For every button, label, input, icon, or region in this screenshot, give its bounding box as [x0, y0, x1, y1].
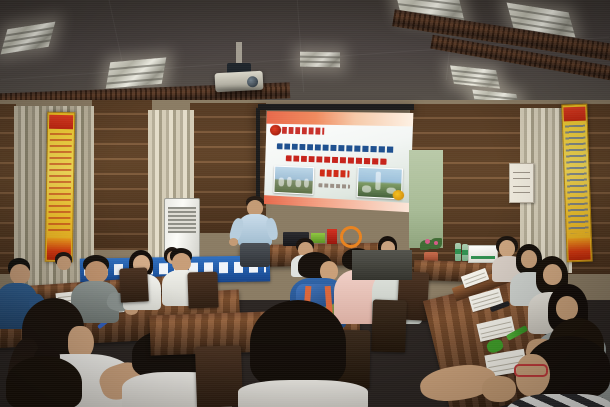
- plant-flower: [434, 241, 438, 245]
- slide-logo-icon: [270, 125, 282, 136]
- cabinet: [352, 250, 412, 280]
- ceiling-light: [300, 52, 340, 68]
- projector-shadow: [212, 88, 264, 93]
- orange-ring-object: [340, 226, 362, 248]
- hand: [482, 376, 516, 402]
- presenter-trousers: [240, 243, 270, 267]
- slide-title-line-2: [286, 155, 387, 165]
- ceiling-light: [106, 57, 167, 88]
- lecture-hall-photo: 校园文化宣传标语 校园文化宣传标语 通知公告 ceiling-projector…: [0, 0, 610, 407]
- ceiling-light: [1, 22, 56, 55]
- slide-title-line-1: [277, 143, 396, 153]
- eyeglasses-icon: [514, 364, 548, 377]
- chair: [371, 299, 407, 352]
- ceiling-light: [450, 65, 500, 88]
- presenter-hand: [229, 238, 238, 246]
- slide-speaker-name: [320, 169, 350, 177]
- projection-screen-edge-left: [256, 108, 260, 208]
- projection-screen-frame: [258, 104, 414, 110]
- slide-photo-left: [273, 166, 314, 195]
- wall-notice: [509, 163, 534, 203]
- chair: [119, 267, 149, 302]
- wall-banner-right: [561, 104, 592, 263]
- slide-header-bar: [266, 111, 413, 126]
- wood-wall-panel-left: [92, 100, 152, 250]
- wall-green-panel: [409, 150, 443, 248]
- slide-footer-logo-icon: [392, 190, 404, 201]
- chair: [187, 271, 218, 308]
- projection-screen[interactable]: 广西民族大学 相思湖学院 如何把握好人生规划与心态开关 ——研究生道德行为自律规…: [264, 111, 414, 212]
- chair: [195, 345, 243, 407]
- red-box: [327, 229, 337, 244]
- wall-banner-left: [45, 112, 76, 262]
- plant-flower: [425, 239, 430, 244]
- water-bottle: [462, 244, 468, 261]
- slide-org-text: [282, 127, 324, 135]
- presenter: [232, 196, 278, 266]
- slide-date: [318, 183, 350, 188]
- water-bottle: [455, 243, 461, 261]
